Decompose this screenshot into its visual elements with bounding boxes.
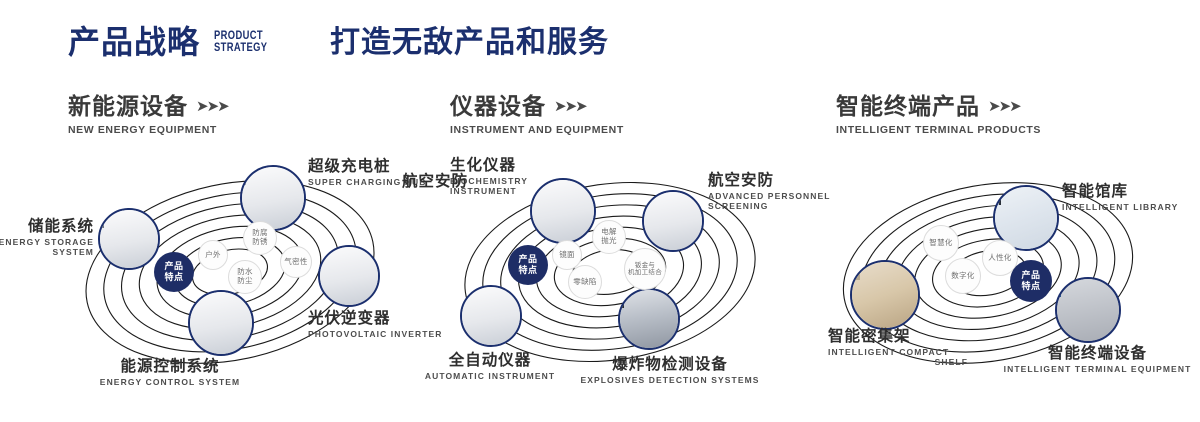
product-name-cn: 爆炸物检测设备 [560, 356, 780, 374]
product-name-cn: 智能终端设备 [995, 345, 1200, 363]
product-bubble-screening[interactable] [642, 190, 704, 252]
feature-bubble-airtight: 气密性 [280, 246, 312, 278]
page-title-en: PRODUCT STRATEGY [214, 29, 267, 58]
charging-pile-icon [242, 167, 304, 229]
product-bubble-smart-terminal[interactable] [1055, 277, 1121, 343]
compact-shelf-icon [852, 262, 918, 328]
product-bubble-automatic-instrument[interactable] [460, 285, 522, 347]
product-caption-automatic-instrument: 全自动仪器 AUTOMATIC INSTRUMENT [410, 352, 570, 382]
core-bubble-product-features: 产品 特点 [1010, 260, 1052, 302]
product-name-en-2: SYSTEM [0, 248, 94, 258]
product-caption-explosives-detection: 爆炸物检测设备 EXPLOSIVES DETECTION SYSTEMS [560, 356, 780, 386]
feature-label: 镜面 [559, 251, 575, 260]
product-caption-energy-control: 能源控制系统 ENERGY CONTROL SYSTEM [60, 358, 280, 388]
section-title-cn: 新能源设备 [68, 95, 188, 118]
control-cabinet-icon [190, 292, 252, 354]
cluster-intelligent-terminal: 智能馆库 INTELLIGENT LIBRARY 智能密集架 INTELLIGE… [810, 165, 1200, 395]
page-title-en-line2: STRATEGY [214, 41, 267, 54]
section-heading-new-energy: 新能源设备 ➤➤➤ NEW ENERGY EQUIPMENT [68, 95, 228, 136]
core-bubble-product-features: 产品 特点 [154, 252, 194, 292]
cluster-new-energy: 储能系统 ENERGY STORAGE SYSTEM 超级充电桩 SUPER C… [40, 160, 440, 390]
product-name-cn: 全自动仪器 [410, 352, 570, 370]
page-subtitle: 打造无敌产品和服务 [330, 28, 609, 58]
feature-bubble-electropolish: 电解 抛光 [592, 220, 626, 254]
feature-label: 智慧化 [929, 239, 952, 248]
feature-bubble-sheetmetal-machining: 钣金与 机加工结合 [624, 248, 666, 290]
chevron-right-icon: ➤➤➤ [554, 99, 586, 114]
section-heading-intelligent-terminal: 智能终端产品 ➤➤➤ INTELLIGENT TERMINAL PRODUCTS [836, 95, 1041, 136]
page-header: 产品战略 PRODUCT STRATEGY [68, 26, 282, 58]
core-label-2: 特点 [164, 272, 183, 283]
page-title-cn: 产品战略 [68, 26, 200, 58]
feature-bubble-digital: 数字化 [945, 258, 981, 294]
product-caption-smart-terminal: 智能终端设备 INTELLIGENT TERMINAL EQUIPMENT [995, 345, 1200, 375]
product-caption-energy-storage: 储能系统 ENERGY STORAGE SYSTEM [0, 218, 94, 257]
product-caption-compact-shelf: 智能密集架 INTELLIGENT COMPACT SHELF [828, 328, 968, 367]
core-label-1: 产品 [518, 254, 537, 265]
section-title-cn: 仪器设备 [450, 95, 546, 118]
product-name-en-1: EXPLOSIVES DETECTION SYSTEMS [560, 376, 780, 386]
product-bubble-energy-control[interactable] [188, 290, 254, 356]
core-label-1: 产品 [1021, 270, 1040, 281]
core-bubble-product-features: 产品 特点 [508, 245, 548, 285]
feature-label-2: 抛光 [601, 237, 617, 246]
feature-bubble-outdoor: 户外 [198, 240, 228, 270]
cluster-instrument: 生化仪器 BIOCHEMISTRY INSTRUMENT 航空安防 航空安防 A… [420, 160, 820, 390]
product-name-en-1: INTELLIGENT TERMINAL EQUIPMENT [995, 365, 1200, 375]
automatic-instrument-icon [462, 287, 520, 345]
section-title-en: INSTRUMENT AND EQUIPMENT [450, 124, 624, 136]
feature-label-1: 钣金与 [635, 262, 655, 269]
core-label-2: 特点 [518, 265, 537, 276]
feature-bubble-zero-defect: 零缺陷 [568, 265, 602, 299]
section-title-en: INTELLIGENT TERMINAL PRODUCTS [836, 124, 1041, 136]
smart-terminal-icon [1057, 279, 1119, 341]
feature-label-2: 防锈 [252, 238, 268, 247]
product-name-cn: 智能馆库 [1062, 183, 1200, 201]
product-name-cn: 智能密集架 [828, 328, 968, 346]
feature-label-2: 防尘 [237, 277, 253, 286]
product-name-en-1: INTELLIGENT LIBRARY [1062, 203, 1200, 213]
section-title-cn: 智能终端产品 [836, 95, 980, 118]
product-bubble-explosives-detection[interactable] [618, 288, 680, 350]
product-bubble-charging-hub[interactable] [240, 165, 306, 231]
product-name-cn: 航空安防 [402, 173, 492, 191]
product-caption-smart-library: 智能馆库 INTELLIGENT LIBRARY [1062, 183, 1200, 213]
core-label-2: 特点 [1021, 281, 1040, 292]
section-heading-instrument: 仪器设备 ➤➤➤ INSTRUMENT AND EQUIPMENT [450, 95, 624, 136]
explosives-detector-icon [620, 290, 678, 348]
chevron-right-icon: ➤➤➤ [196, 99, 228, 114]
product-bubble-compact-shelf[interactable] [850, 260, 920, 330]
product-bubble-pv-inverter[interactable] [318, 245, 380, 307]
product-name-cn: 能源控制系统 [60, 358, 280, 376]
screening-machine-icon [644, 192, 702, 250]
feature-bubble-waterproof: 防水 防尘 [228, 260, 262, 294]
product-name-en-2: SHELF [828, 358, 968, 368]
feature-label: 气密性 [284, 258, 307, 267]
battery-cabinet-icon [100, 210, 158, 268]
feature-label-2: 机加工结合 [628, 269, 662, 276]
section-title-en: NEW ENERGY EQUIPMENT [68, 124, 228, 136]
product-name-en-1: AUTOMATIC INSTRUMENT [410, 372, 570, 382]
feature-bubble-anticorrosion: 防腐 防锈 [243, 221, 277, 255]
product-name-cn: 储能系统 [0, 218, 94, 236]
feature-label: 户外 [205, 251, 221, 260]
feature-label: 人性化 [988, 254, 1011, 263]
feature-bubble-smart: 智慧化 [923, 225, 959, 261]
page-title-en-line1: PRODUCT [214, 29, 267, 42]
inverter-icon [320, 247, 378, 305]
product-name-en-1: ENERGY CONTROL SYSTEM [60, 378, 280, 388]
chevron-right-icon: ➤➤➤ [988, 99, 1020, 114]
feature-label: 数字化 [951, 272, 974, 281]
product-bubble-energy-storage[interactable] [98, 208, 160, 270]
feature-label: 零缺陷 [573, 278, 596, 287]
product-caption-aviation-security-left: 航空安防 [402, 173, 492, 191]
core-label-1: 产品 [164, 261, 183, 272]
